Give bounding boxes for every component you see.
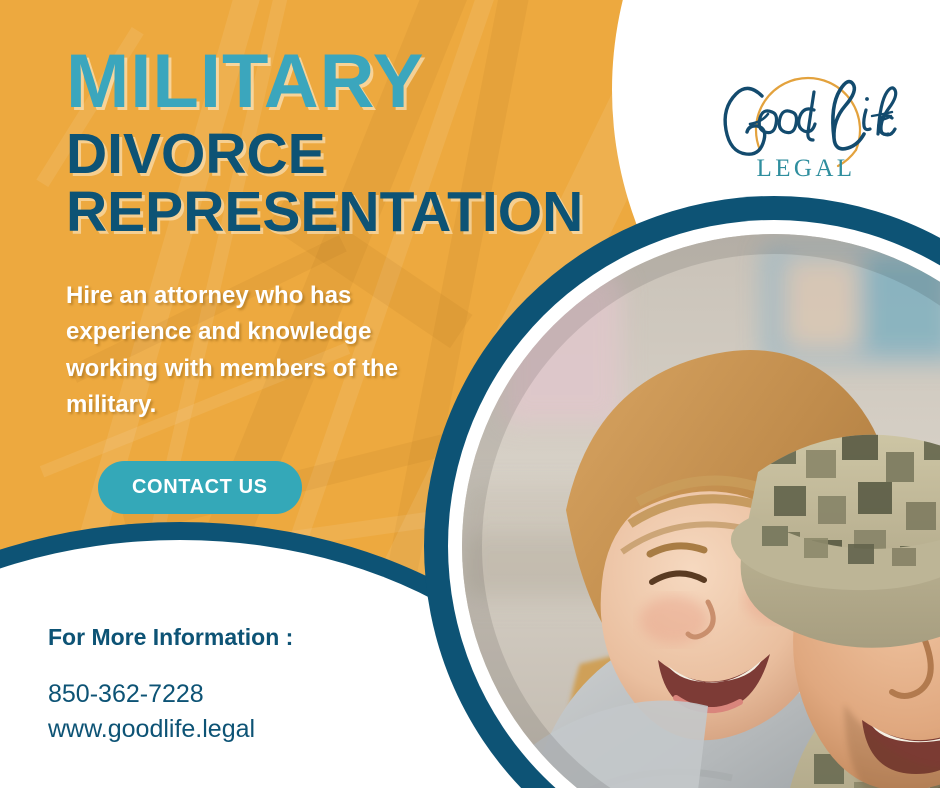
contact-us-button[interactable]: CONTACT US <box>98 461 302 514</box>
phone-number-link[interactable]: 850-362-7228 <box>48 677 293 712</box>
headline-line-military: MILITARY <box>66 46 686 119</box>
logo-wordmark: LEGAL <box>757 155 856 182</box>
website-link[interactable]: www.goodlife.legal <box>48 712 293 747</box>
subcopy-text: Hire an attorney who has experience and … <box>66 278 416 424</box>
headline-line-divorce: DIVORCE <box>66 125 686 183</box>
good-life-legal-logo[interactable]: Good Life <box>706 46 906 196</box>
headline-block: MILITARY DIVORCE REPRESENTATION <box>66 46 686 241</box>
footer-heading: For More Information : <box>48 624 293 651</box>
advertisement-poster: Smiling soldier in camouflage uniform an… <box>0 0 940 788</box>
headline-line-representation: REPRESENTATION <box>66 183 686 241</box>
footer-contact-block: For More Information : 850-362-7228 www.… <box>48 624 293 746</box>
